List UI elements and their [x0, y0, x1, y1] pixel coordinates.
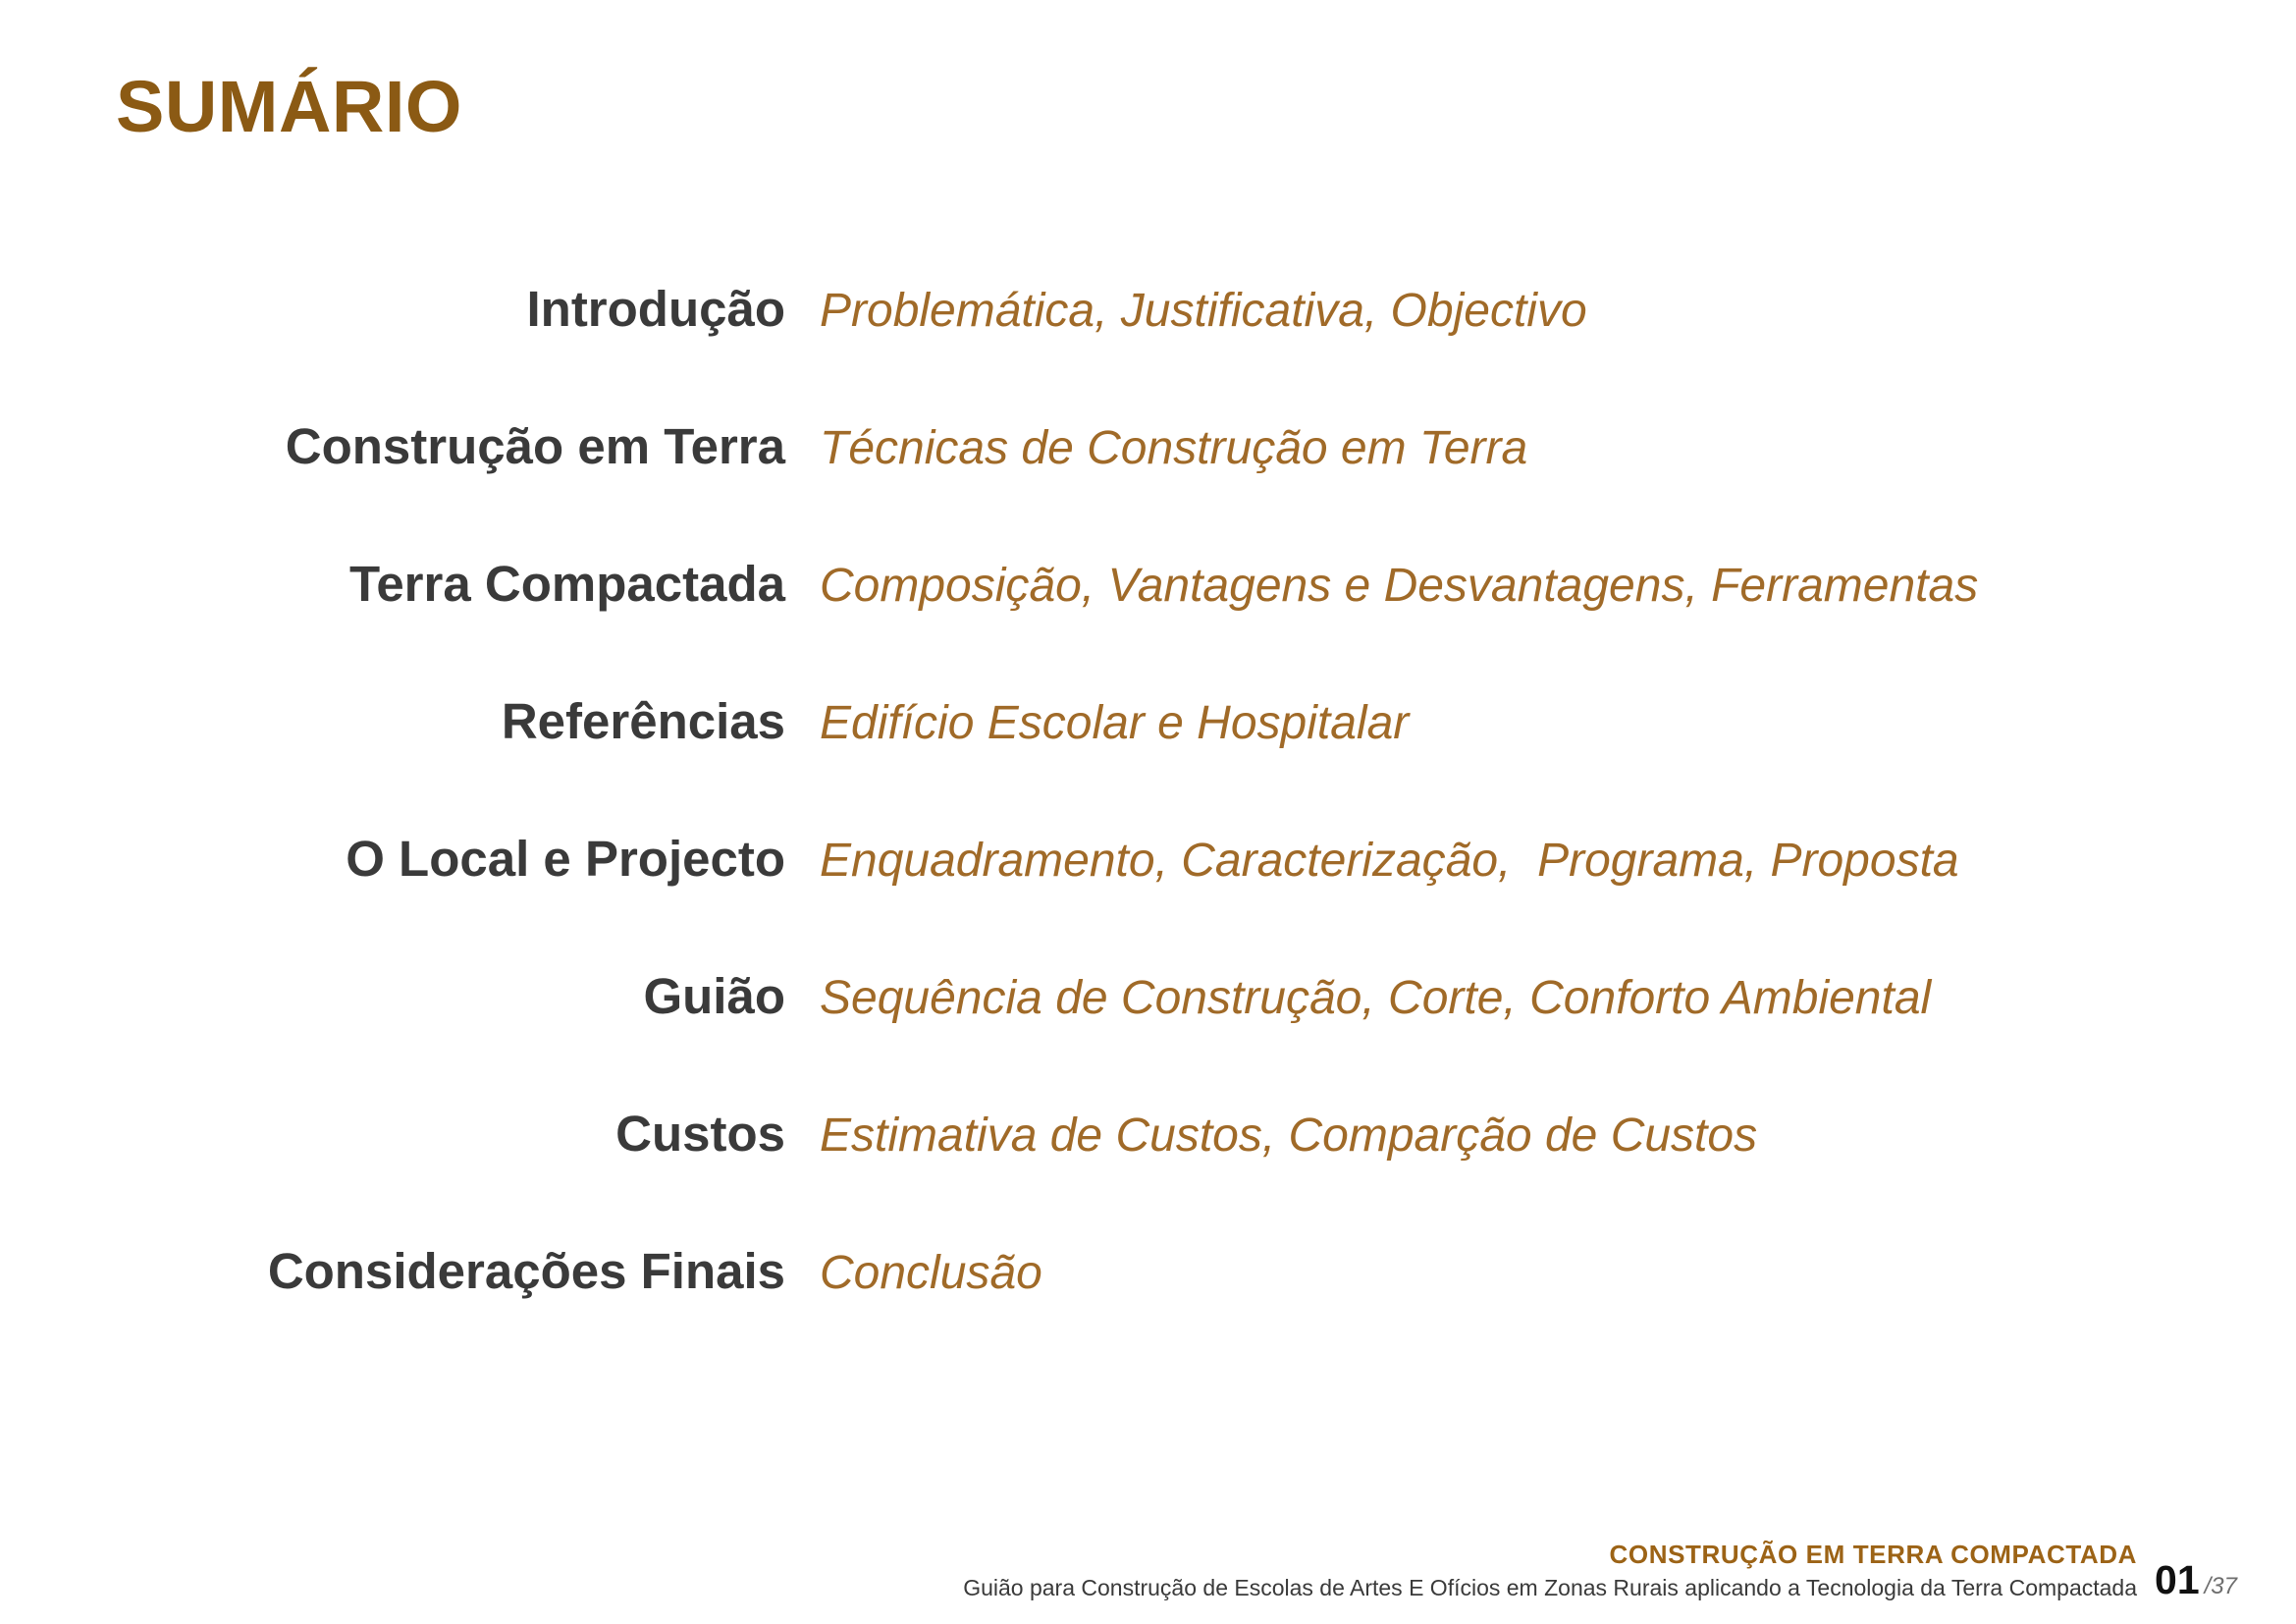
- summary-item-label: Construção em Terra: [0, 421, 785, 471]
- presentation-slide: SUMÁRIO Introdução Problemática, Justifi…: [0, 0, 2296, 1624]
- page-indicator: 01 /37: [2155, 1560, 2237, 1602]
- summary-item-description: Técnicas de Construção em Terra: [820, 425, 1527, 472]
- summary-item-label: Custos: [0, 1109, 785, 1159]
- summary-item-description: Sequência de Construção, Corte, Conforto…: [820, 975, 1931, 1022]
- summary-item-description: Enquadramento, Caracterização, Programa,…: [820, 838, 1959, 885]
- summary-list: Introdução Problemática, Justificativa, …: [0, 284, 2296, 1383]
- summary-item-label: Considerações Finais: [0, 1246, 785, 1296]
- summary-item-label: Referências: [0, 696, 785, 746]
- footer-text-block: CONSTRUÇÃO EM TERRA COMPACTADA Guião par…: [963, 1539, 2155, 1602]
- summary-item-description: Problemática, Justificativa, Objectivo: [820, 288, 1587, 335]
- summary-item-description: Composição, Vantagens e Desvantagens, Fe…: [820, 563, 1978, 610]
- list-item[interactable]: O Local e Projecto Enquadramento, Caract…: [0, 834, 2296, 971]
- footer-document-title: CONSTRUÇÃO EM TERRA COMPACTADA: [963, 1539, 2137, 1571]
- list-item[interactable]: Guião Sequência de Construção, Corte, Co…: [0, 971, 2296, 1109]
- summary-item-description: Estimativa de Custos, Comparção de Custo…: [820, 1112, 1757, 1160]
- summary-item-description: Conclusão: [820, 1250, 1042, 1297]
- list-item[interactable]: Considerações Finais Conclusão: [0, 1246, 2296, 1383]
- summary-item-label: Guião: [0, 971, 785, 1021]
- page-number-current: 01: [2155, 1560, 2200, 1600]
- slide-footer: CONSTRUÇÃO EM TERRA COMPACTADA Guião par…: [963, 1539, 2237, 1602]
- summary-item-description: Edifício Escolar e Hospitalar: [820, 700, 1409, 747]
- page-number-total: /37: [2205, 1575, 2237, 1598]
- summary-item-label: O Local e Projecto: [0, 834, 785, 884]
- page-title: SUMÁRIO: [116, 71, 462, 143]
- list-item[interactable]: Introdução Problemática, Justificativa, …: [0, 284, 2296, 421]
- list-item[interactable]: Terra Compactada Composição, Vantagens e…: [0, 559, 2296, 696]
- list-item[interactable]: Construção em Terra Técnicas de Construç…: [0, 421, 2296, 559]
- footer-document-subtitle: Guião para Construção de Escolas de Arte…: [963, 1574, 2137, 1602]
- list-item[interactable]: Referências Edifício Escolar e Hospitala…: [0, 696, 2296, 834]
- summary-item-label: Terra Compactada: [0, 559, 785, 609]
- list-item[interactable]: Custos Estimativa de Custos, Comparção d…: [0, 1109, 2296, 1246]
- summary-item-label: Introdução: [0, 284, 785, 334]
